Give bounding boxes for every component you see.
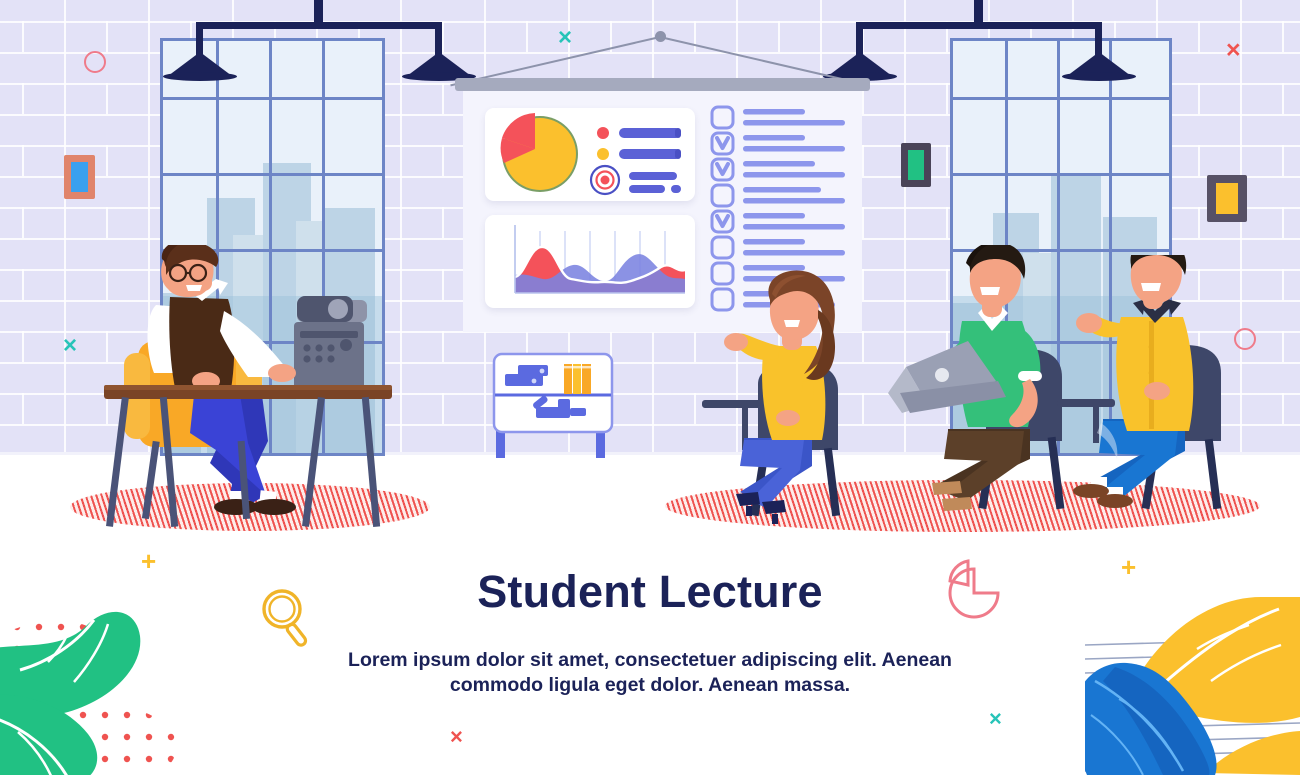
pie-chart-card — [485, 108, 695, 201]
subtitle-line-1: Lorem ipsum dolor sit amet, consectetuer… — [348, 649, 952, 671]
wall-frame-green — [901, 143, 931, 187]
cross-teal-left: × — [63, 334, 77, 358]
legend-dot-yellow — [597, 148, 609, 160]
student-laptop — [880, 245, 1070, 525]
wall-frame-yellow — [1207, 175, 1247, 222]
student-man-right — [1055, 255, 1235, 525]
student-woman — [700, 270, 890, 530]
cross-red-bottom: × — [450, 726, 463, 748]
subtitle-line-2: commodo ligula eget dolor. Aenean massa. — [450, 674, 850, 696]
area-chart-svg — [485, 215, 695, 308]
cross-teal-bottom: × — [989, 708, 1002, 730]
circle-outline-pink-topleft — [84, 51, 106, 73]
checklist-row — [712, 237, 845, 258]
area-chart-card — [485, 215, 695, 308]
book-shelf — [492, 352, 612, 432]
page-title: Student Lecture — [0, 566, 1300, 618]
pie-chart-svg — [485, 108, 695, 201]
page-subtitle: Lorem ipsum dolor sit amet, consectetuer… — [330, 648, 970, 698]
cross-teal-top: × — [558, 26, 572, 50]
circle-outline-pink-right — [1234, 328, 1256, 350]
checklist-row — [712, 159, 845, 180]
illustration-canvas: × × × × × + + Student Lecture Lorem ipsu… — [0, 0, 1300, 775]
leaf-green-bottomleft — [0, 600, 220, 775]
teacher-group — [90, 245, 420, 535]
checklist-row — [712, 185, 845, 206]
screen-roller-bar — [455, 78, 870, 91]
leaf-cluster-bottomright — [1085, 595, 1300, 775]
wall-frame-blue — [64, 155, 95, 199]
cross-red-topright: × — [1226, 38, 1241, 63]
checklist-row — [712, 133, 845, 154]
checklist-row — [712, 107, 845, 128]
checklist-row — [712, 211, 845, 232]
projector — [294, 296, 367, 392]
legend-dot-red — [597, 127, 609, 139]
